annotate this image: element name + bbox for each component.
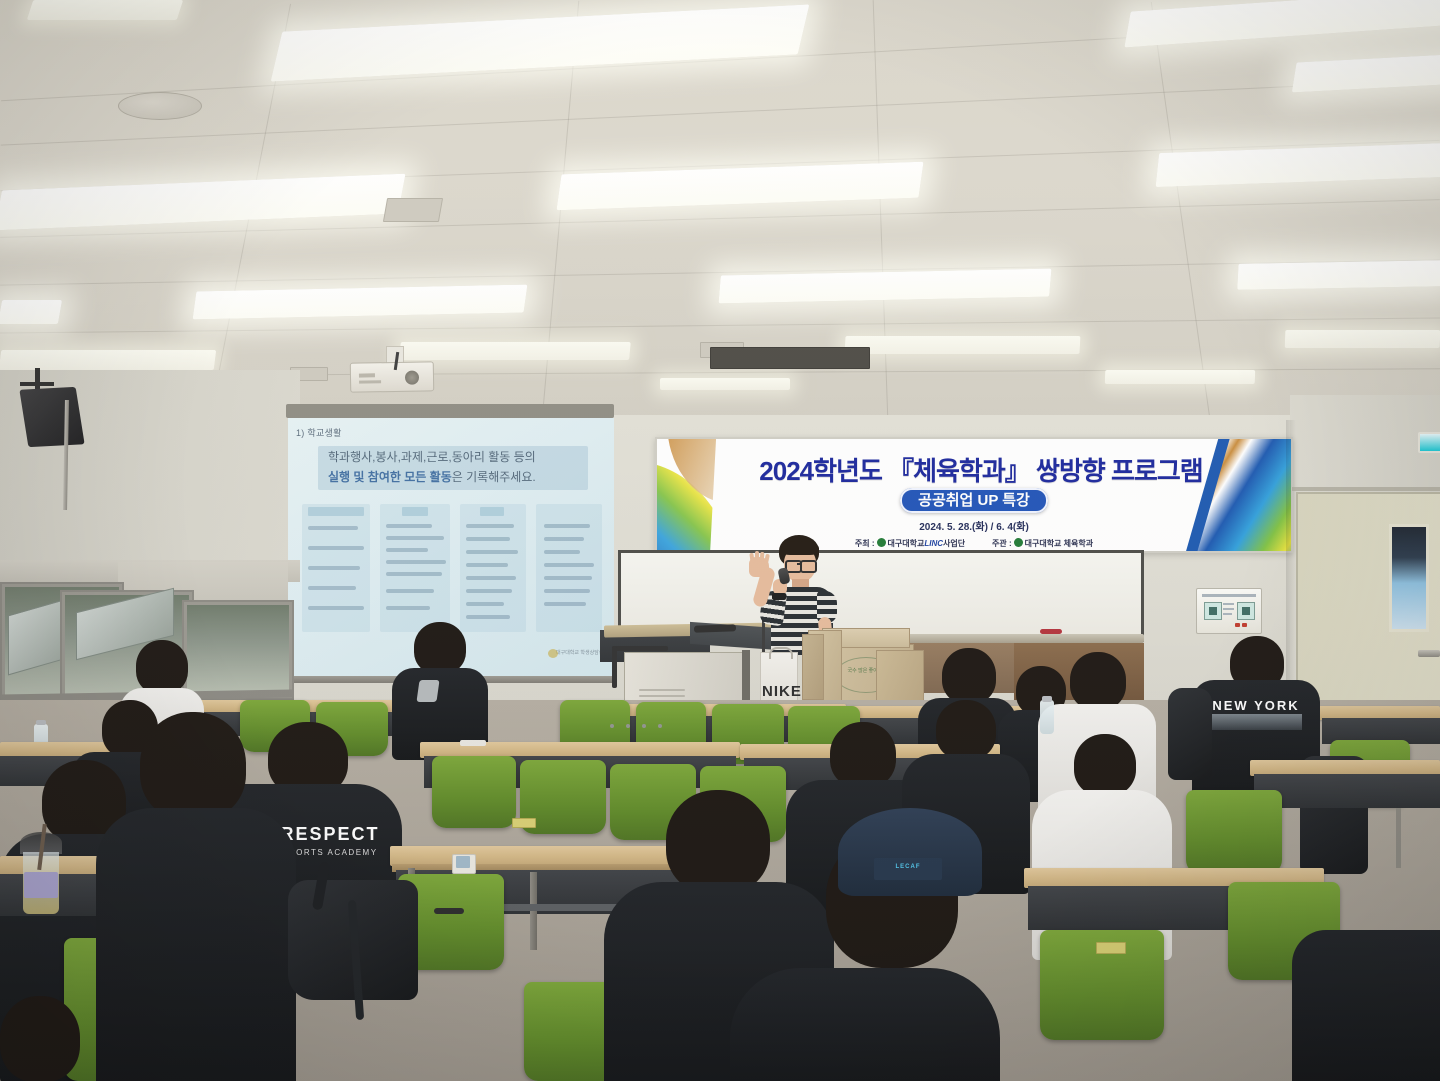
slide-bullet xyxy=(386,606,430,610)
slide-bullet xyxy=(544,602,586,606)
slide-bullet xyxy=(386,548,428,552)
chair-leg xyxy=(1396,800,1401,868)
slide-column-header xyxy=(308,507,364,516)
cup-sleeve xyxy=(24,872,58,898)
slide-bullet xyxy=(386,560,446,564)
presenter-finger xyxy=(755,551,759,562)
slide-bullet xyxy=(386,524,432,528)
projector xyxy=(350,361,435,392)
panel-hole xyxy=(626,724,630,728)
panel-hole xyxy=(610,724,614,728)
desk-item xyxy=(456,856,470,868)
student-s3 xyxy=(96,712,296,1081)
desk-remote xyxy=(694,624,736,632)
slide-bullet xyxy=(544,524,590,528)
banner-subtitle: 공공취업 UP 특강 xyxy=(900,488,1048,513)
iced-drink[interactable] xyxy=(18,832,64,916)
slide-bullet xyxy=(466,576,516,580)
backpack xyxy=(1168,688,1212,780)
wall-speaker xyxy=(19,387,84,447)
student-torso xyxy=(730,968,1000,1081)
ceiling-light-panel xyxy=(0,350,216,370)
slide-bullet xyxy=(466,537,510,541)
slide-bullet xyxy=(386,572,442,576)
projection-screen-housing xyxy=(286,404,614,418)
desk-leg xyxy=(530,872,537,950)
slide-highlight-bold: 실행 및 참여한 모든 활동 xyxy=(328,470,452,484)
organizer-emblem-icon xyxy=(1014,538,1023,547)
student-head xyxy=(936,700,996,760)
banner-host-program: LINC xyxy=(924,539,943,548)
panel-led xyxy=(1242,623,1247,627)
presenter-glasses xyxy=(800,560,817,573)
student-s3b xyxy=(0,996,80,1081)
whiteboard-marker-red xyxy=(1040,629,1062,634)
wall-control-panel xyxy=(1196,588,1262,634)
exit-sign-icon xyxy=(1418,432,1440,453)
shirt-graphic xyxy=(1212,714,1302,730)
wristwatch xyxy=(772,593,786,600)
slide-bullet xyxy=(308,566,360,570)
chair-label xyxy=(512,818,536,828)
student-head xyxy=(140,712,246,820)
ceiling-light-panel xyxy=(1237,260,1440,290)
cap-brand-text: LECAF xyxy=(874,864,942,870)
door-handle xyxy=(1418,650,1440,657)
projector-vent xyxy=(359,380,381,383)
panel-text-block xyxy=(1202,594,1256,597)
slide-bullet xyxy=(466,615,510,619)
ceiling-light-panel xyxy=(399,342,631,360)
slide-bullet xyxy=(466,563,508,567)
slide-column xyxy=(536,504,602,632)
slide-bullet xyxy=(544,537,584,541)
desk-item xyxy=(460,740,486,746)
student-torso xyxy=(1292,930,1440,1081)
slide-bullet xyxy=(466,550,518,554)
student-head xyxy=(414,622,466,674)
podium-vent-line xyxy=(639,689,685,691)
ceiling-light-panel xyxy=(1285,330,1440,348)
student-head xyxy=(830,722,896,788)
slide-highlight-line-2: 실행 및 참여한 모든 활동은 기록해주세요. xyxy=(328,468,536,486)
banner-host-label: 주최 : xyxy=(855,539,875,548)
projector-lens xyxy=(405,371,419,385)
slide-bullet xyxy=(308,606,364,610)
desk-item xyxy=(434,908,464,914)
ceiling-light-panel xyxy=(660,378,790,390)
slide-bullet xyxy=(386,589,434,593)
panel-button-inner xyxy=(1209,607,1217,615)
glasses-bridge xyxy=(797,563,801,565)
slide-section-label: 1) 학교생활 xyxy=(296,426,342,439)
bag-handle xyxy=(769,647,793,659)
speaker-bracket xyxy=(20,382,54,386)
slide-highlight-line-1: 학과행사,봉사,과제,근로,동아리 활동 등의 xyxy=(328,448,536,465)
slide-column xyxy=(380,504,450,632)
slide-footer-mark xyxy=(548,649,558,658)
bottle-cap xyxy=(36,720,46,725)
ceiling-light-panel xyxy=(1105,370,1255,384)
panel-hole xyxy=(658,724,662,728)
projector-vent xyxy=(359,373,375,377)
slide-column xyxy=(460,504,526,632)
panel-text-block xyxy=(1223,603,1234,605)
slide-column-header xyxy=(480,507,504,516)
slide-bullet xyxy=(544,563,594,567)
presenter-finger xyxy=(764,554,770,564)
water-bottle[interactable] xyxy=(1040,700,1054,734)
banner-host-name: 대구대학교 xyxy=(888,539,925,548)
panel-text-block xyxy=(1223,608,1234,610)
student-s10 xyxy=(392,622,488,756)
slide-bullet xyxy=(544,589,590,593)
bottle-cap xyxy=(1042,696,1052,702)
shopping-bag-brand: NIKE xyxy=(762,683,802,700)
student-s8b xyxy=(1292,930,1440,1081)
chair-label xyxy=(1096,942,1126,954)
panel-hole xyxy=(642,724,646,728)
student-head xyxy=(136,640,188,694)
banner-host-suffix: 사업단 xyxy=(943,539,965,548)
panel-button[interactable] xyxy=(1237,602,1255,620)
student-head xyxy=(0,996,80,1081)
slide-bullet xyxy=(544,550,580,554)
slide-bullet xyxy=(308,546,364,550)
banner-date: 2024. 5. 28.(화) / 6. 4(화) xyxy=(657,518,1291,533)
ceiling-vent xyxy=(383,198,443,222)
panel-button-inner xyxy=(1242,607,1250,615)
student-shirt-logo xyxy=(416,680,439,702)
slide-bullet xyxy=(386,536,444,540)
panel-led xyxy=(1235,623,1240,627)
panel-button[interactable] xyxy=(1204,602,1222,620)
slide-bullet xyxy=(466,589,512,593)
slide-bullet xyxy=(544,576,592,580)
slide-column xyxy=(302,504,370,632)
panel-text-block xyxy=(1223,613,1232,615)
student-head xyxy=(1074,734,1136,796)
presenter-hair-fringe xyxy=(781,541,819,555)
slide-highlight-rest: 은 기록해주세요. xyxy=(452,470,536,484)
slide-bullet xyxy=(466,602,504,606)
student-head xyxy=(1070,652,1126,710)
podium-bracket xyxy=(612,646,668,651)
presenter-finger xyxy=(749,553,754,563)
slide-bullet xyxy=(466,524,514,528)
host-emblem-icon xyxy=(877,538,886,547)
ceiling-speaker xyxy=(118,92,202,120)
ceiling-vent xyxy=(710,347,870,369)
slide-bullet xyxy=(308,586,356,590)
door-window xyxy=(1389,524,1429,632)
slide-bullet xyxy=(308,526,358,530)
student-head xyxy=(942,648,996,704)
banner-organizer-name: 대구대학교 체육학과 xyxy=(1025,539,1093,548)
slide-column-header xyxy=(402,507,428,516)
student-torso xyxy=(96,808,296,1081)
podium-bracket xyxy=(612,646,617,688)
wall-rail xyxy=(1292,487,1440,491)
banner-subtitle-wrap: 공공취업 UP 특강 xyxy=(657,489,1291,510)
ceiling-light-panel xyxy=(845,336,1081,354)
cardboard-box-tall xyxy=(802,634,824,700)
chair[interactable] xyxy=(432,756,516,828)
chair[interactable] xyxy=(1186,790,1282,874)
ceiling-light-panel xyxy=(27,0,183,20)
podium-vent-line xyxy=(639,695,685,697)
desk-panel-dots xyxy=(610,724,662,728)
banner-title: 2024학년도 『체육학과』 쌍방향 프로그램 xyxy=(701,451,1261,488)
lecture-hall-photo: 1) 학교생활 학과행사,봉사,과제,근로,동아리 활동 등의 실행 및 참여한… xyxy=(0,0,1440,1081)
ceiling-light-panel xyxy=(0,300,62,324)
baseball-cap xyxy=(838,808,982,896)
banner-organizer-label: 주관 : xyxy=(992,539,1012,548)
student-s5: LECAF xyxy=(730,808,1000,1081)
